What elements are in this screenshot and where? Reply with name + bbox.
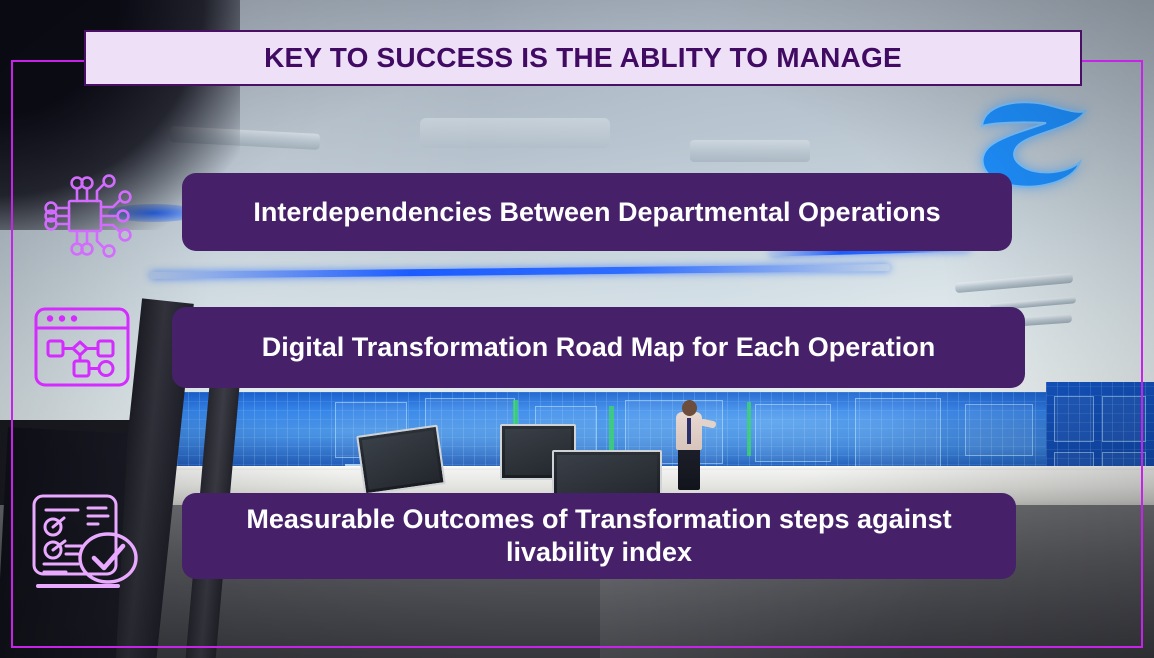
slide-title-bar: KEY TO SUCCESS IS THE ABLITY TO MANAGE [84,30,1082,86]
ceiling-vent [690,140,810,162]
key-point-pill-3: Measurable Outcomes of Transformation st… [182,493,1016,579]
person-head [682,400,697,416]
key-point-pill-1: Interdependencies Between Departmental O… [182,173,1012,251]
monitor-screen [362,430,440,490]
video-wall-panel [855,398,941,468]
monitor-screen [557,455,657,497]
desk-monitor [356,425,446,496]
side-wall-panel [1054,396,1094,442]
key-point-text-1: Interdependencies Between Departmental O… [253,196,940,229]
person-tie [687,418,691,444]
key-point-text-3: Measurable Outcomes of Transformation st… [200,503,998,569]
key-point-pill-2: Digital Transformation Road Map for Each… [172,307,1025,388]
key-point-text-2: Digital Transformation Road Map for Each… [262,331,936,364]
microchip-icon [26,163,144,267]
video-wall-indicator [747,402,751,456]
person-legs [678,448,700,490]
checklist-approved-icon [18,487,146,593]
video-wall-panel [755,404,831,462]
slide-title: KEY TO SUCCESS IS THE ABLITY TO MANAGE [264,42,902,74]
ceiling-vent [420,118,610,148]
flowchart-window-icon [26,299,138,395]
presentation-slide: KEY TO SUCCESS IS THE ABLITY TO MANAGE I… [0,0,1154,658]
video-wall-panel [965,404,1033,456]
video-wall-indicator [609,406,614,454]
side-wall-panel [1102,396,1146,442]
